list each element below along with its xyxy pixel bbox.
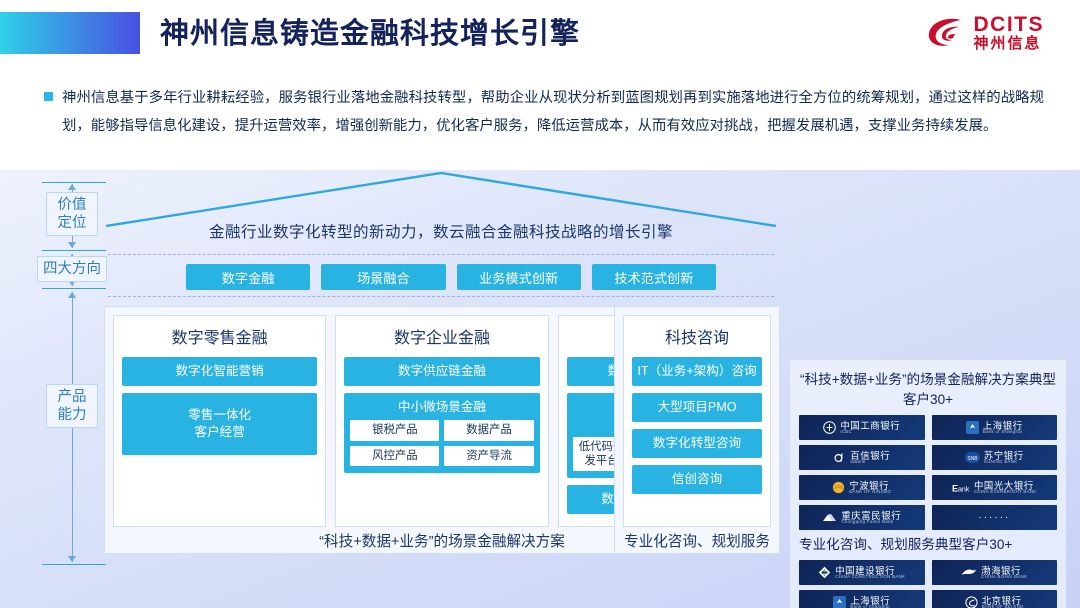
axis-label-value-line2: 定位 <box>50 214 94 232</box>
product-subtile-asset-routing[interactable]: 资产导流 <box>444 446 533 466</box>
ccb-icon <box>818 566 831 579</box>
customer-logo-suning-bank[interactable]: SNB 苏宁银行 SUNING BANK <box>932 445 1058 470</box>
consulting-title: 科技咨询 <box>632 322 762 350</box>
page-title: 神州信息铸造金融科技增长引擎 <box>160 10 580 52</box>
customer-name-bos: 上海银行 Bank of Shanghai <box>983 421 1023 435</box>
customer-name-bohai: 渤海银行 CHINA BOHAI BANK <box>981 566 1027 580</box>
divider-dashed-top <box>108 254 774 255</box>
axis-label-value-line1: 价值 <box>50 196 94 214</box>
product-group-sme-scenario-finance[interactable]: 中小微场景金融 银税产品 数据产品 风控产品 资产导流 <box>344 393 539 473</box>
ningbo-icon <box>832 481 845 494</box>
consulting-inner: 科技咨询 IT（业务+架构）咨询 大型项目PMO 数字化转型咨询 信创咨询 <box>623 315 771 527</box>
intro-paragraph: 神州信息基于多年行业耕耘经验，服务银行业落地金融科技转型，帮助企业从现状分析到蓝… <box>44 84 1044 140</box>
product-column-title-enterprise: 数字企业金融 <box>344 322 539 350</box>
customer-logo-bohai-bank[interactable]: 渤海银行 CHINA BOHAI BANK <box>932 560 1058 585</box>
four-directions-row: 数字金融 场景融合 业务模式创新 技术范式创新 <box>186 264 716 290</box>
customer-name-ningbo: 宁波银行 BANK OF NINGBO <box>849 481 891 495</box>
customer-name-everbright: 中国光大银行 CHINA EVERBRIGHT BANK <box>974 481 1037 495</box>
product-tile-retail-integration[interactable]: 零售一体化 客户经营 <box>122 393 317 455</box>
bullet-square-icon <box>44 92 53 101</box>
customer-logo-ccb[interactable]: 中国建设银行 CHINA CONSTRUCTION BANK <box>799 560 925 585</box>
customer-logo-everbright-bank[interactable]: Eank 中国光大银行 CHINA EVERBRIGHT BANK <box>932 475 1058 500</box>
customer-logo-bank-of-shanghai-2[interactable]: 上海银行 Bank of Shanghai <box>799 590 925 608</box>
customer-logo-chongqing-fumin-bank[interactable]: 重庆富民银行 Chongqing Fumin Bank <box>799 505 925 530</box>
consulting-tile-digital-transformation[interactable]: 数字化转型咨询 <box>632 429 762 458</box>
product-tile-supply-chain-finance[interactable]: 数字供应链金融 <box>344 357 539 386</box>
svg-text:SNB: SNB <box>967 456 978 462</box>
consulting-panel-caption: 专业化咨询、规划服务 <box>623 527 771 553</box>
direction-chip-scenario-fusion[interactable]: 场景融合 <box>321 264 445 290</box>
customer-name-en: CHINA CONSTRUCTION BANK <box>835 575 905 579</box>
customer-logo-grid-consulting: 中国建设银行 CHINA CONSTRUCTION BANK 渤海银行 CHIN… <box>799 560 1057 608</box>
customer-name-en: CHINA EVERBRIGHT BANK <box>974 490 1037 494</box>
product-subtile-tax-bank[interactable]: 银税产品 <box>350 420 439 440</box>
consulting-tile-xinchuang[interactable]: 信创咨询 <box>632 465 762 494</box>
axis-rule-bottom <box>42 564 106 565</box>
product-group-title-sme: 中小微场景金融 <box>350 399 533 415</box>
customers-heading-consulting: 专业化咨询、规划服务典型客户30+ <box>799 530 1057 560</box>
diagram-board: 价值 定位 四大方向 产品 能力 金融行业数字化转型的新动力，数云融合金融科技战… <box>0 170 1080 608</box>
product-column-enterprise: 数字企业金融 数字供应链金融 中小微场景金融 银税产品 数据产品 风控产品 资产… <box>335 315 548 527</box>
left-axis: 价值 定位 四大方向 产品 能力 <box>36 178 114 568</box>
customer-name-en: CHINA BOHAI BANK <box>981 575 1027 579</box>
brand-logo-cn: 神州信息 <box>974 36 1045 52</box>
customer-name-bos-2: 上海银行 Bank of Shanghai <box>850 596 890 608</box>
customer-name-icbc: 中国工商银行 ICBC <box>840 421 900 435</box>
brand-logo-en: DCITS <box>974 14 1045 36</box>
bos-arrow-icon <box>966 421 979 434</box>
everbright-icon: Eank <box>952 482 970 494</box>
value-pitch-text: 金融行业数字化转型的新动力，数云融合金融科技战略的增长引擎 <box>209 220 673 242</box>
customer-name-en: Bank of Shanghai <box>983 430 1023 434</box>
consulting-tile-it-advisory[interactable]: IT（业务+架构）咨询 <box>632 357 762 386</box>
direction-chip-tech-paradigm-innovation[interactable]: 技术范式创新 <box>592 264 716 290</box>
customers-panel: “科技+数据+业务”的场景金融解决方案典型客户30+ 中国工商银行 ICBC <box>790 360 1066 608</box>
axis-rule-mid2 <box>42 288 106 289</box>
axis-label-capability-line2: 能力 <box>50 406 94 424</box>
product-column-retail: 数字零售金融 数字化智能营销 零售一体化 客户经营 <box>113 315 326 527</box>
customer-name-beijing: 北京银行 BANK OF BEIJING <box>982 596 1024 608</box>
customer-name-en: BANK OF NINGBO <box>849 490 891 494</box>
product-column-title-retail: 数字零售金融 <box>122 322 317 350</box>
svg-text:ank: ank <box>958 486 970 493</box>
customer-name-ccb: 中国建设银行 CHINA CONSTRUCTION BANK <box>835 566 905 580</box>
divider-dashed-bottom <box>108 296 774 297</box>
dcits-swirl-logo-icon <box>925 14 967 52</box>
product-tile-retail-line2: 客户经营 <box>188 424 251 441</box>
customer-logo-bank-of-shanghai[interactable]: 上海银行 Bank of Shanghai <box>932 415 1058 440</box>
axis-rule-top <box>42 182 106 183</box>
title-accent-bar <box>0 12 140 54</box>
suning-icon: SNB <box>965 452 980 463</box>
bohai-icon <box>961 567 977 578</box>
consulting-panel: 科技咨询 IT（业务+架构）咨询 大型项目PMO 数字化转型咨询 信创咨询 专业… <box>614 306 780 554</box>
customer-logo-icbc[interactable]: 中国工商银行 ICBC <box>799 415 925 440</box>
icbc-icon <box>823 421 836 434</box>
product-subtiles-sme: 银税产品 数据产品 风控产品 资产导流 <box>350 420 533 466</box>
customer-logo-bank-of-ningbo[interactable]: 宁波银行 BANK OF NINGBO <box>799 475 925 500</box>
product-tile-smart-marketing[interactable]: 数字化智能营销 <box>122 357 317 386</box>
customer-name-en: SUNING BANK <box>984 460 1024 464</box>
consulting-tile-large-project-pmo[interactable]: 大型项目PMO <box>632 393 762 422</box>
brand-logo-text: DCITS 神州信息 <box>974 14 1045 52</box>
bos-arrow-icon <box>833 596 846 608</box>
customer-name-fumin: 重庆富民银行 Chongqing Fumin Bank <box>841 511 901 525</box>
axis-label-value-positioning: 价值 定位 <box>46 192 98 236</box>
product-subtile-data-product[interactable]: 数据产品 <box>444 420 533 440</box>
brand-logo: DCITS 神州信息 <box>925 14 1045 52</box>
axis-label-four-directions: 四大方向 <box>37 256 107 282</box>
slide-root: 神州信息铸造金融科技增长引擎 DCITS 神州信息 神州信息基于多年行业耕耘经验… <box>0 0 1080 608</box>
direction-chip-digital-finance[interactable]: 数字金融 <box>186 264 310 290</box>
intro-text: 神州信息基于多年行业耕耘经验，服务银行业落地金融科技转型，帮助企业从现状分析到蓝… <box>62 84 1044 140</box>
direction-chip-business-model-innovation[interactable]: 业务模式创新 <box>457 264 581 290</box>
customer-logo-more-1[interactable]: ······ <box>932 505 1058 530</box>
slide-header: 神州信息铸造金融科技增长引擎 DCITS 神州信息 <box>0 0 1080 72</box>
axis-label-capability-line1: 产品 <box>50 388 94 406</box>
axis-rule-mid1 <box>42 250 106 251</box>
customer-name-suning: 苏宁银行 SUNING BANK <box>984 451 1024 465</box>
customer-logo-bank-of-beijing[interactable]: 北京银行 BANK OF BEIJING <box>932 590 1058 608</box>
product-tile-retail-line1: 零售一体化 <box>188 407 251 424</box>
customer-name-en: ICBC <box>840 430 900 434</box>
dots-icon: ······ <box>978 512 1010 523</box>
customer-name-en: Chongqing Fumin Bank <box>841 520 901 524</box>
value-pitch: 金融行业数字化转型的新动力，数云融合金融科技战略的增长引擎 <box>106 210 776 252</box>
fumin-icon <box>822 512 837 523</box>
customer-name-en: aiBank <box>850 460 890 464</box>
product-subtile-risk-control[interactable]: 风控产品 <box>350 446 439 466</box>
aibank-alpha-icon <box>833 451 846 464</box>
customer-logo-grid-scenario: 中国工商银行 ICBC 上海银行 Bank of Shanghai <box>799 415 1057 530</box>
customer-name-aibank: 百信银行 aiBank <box>850 451 890 465</box>
axis-label-product-capability: 产品 能力 <box>46 384 98 428</box>
customers-heading-scenario: “科技+数据+业务”的场景金融解决方案典型客户30+ <box>799 368 1057 415</box>
customer-logo-aibank[interactable]: 百信银行 aiBank <box>799 445 925 470</box>
beijing-icon <box>965 596 978 608</box>
